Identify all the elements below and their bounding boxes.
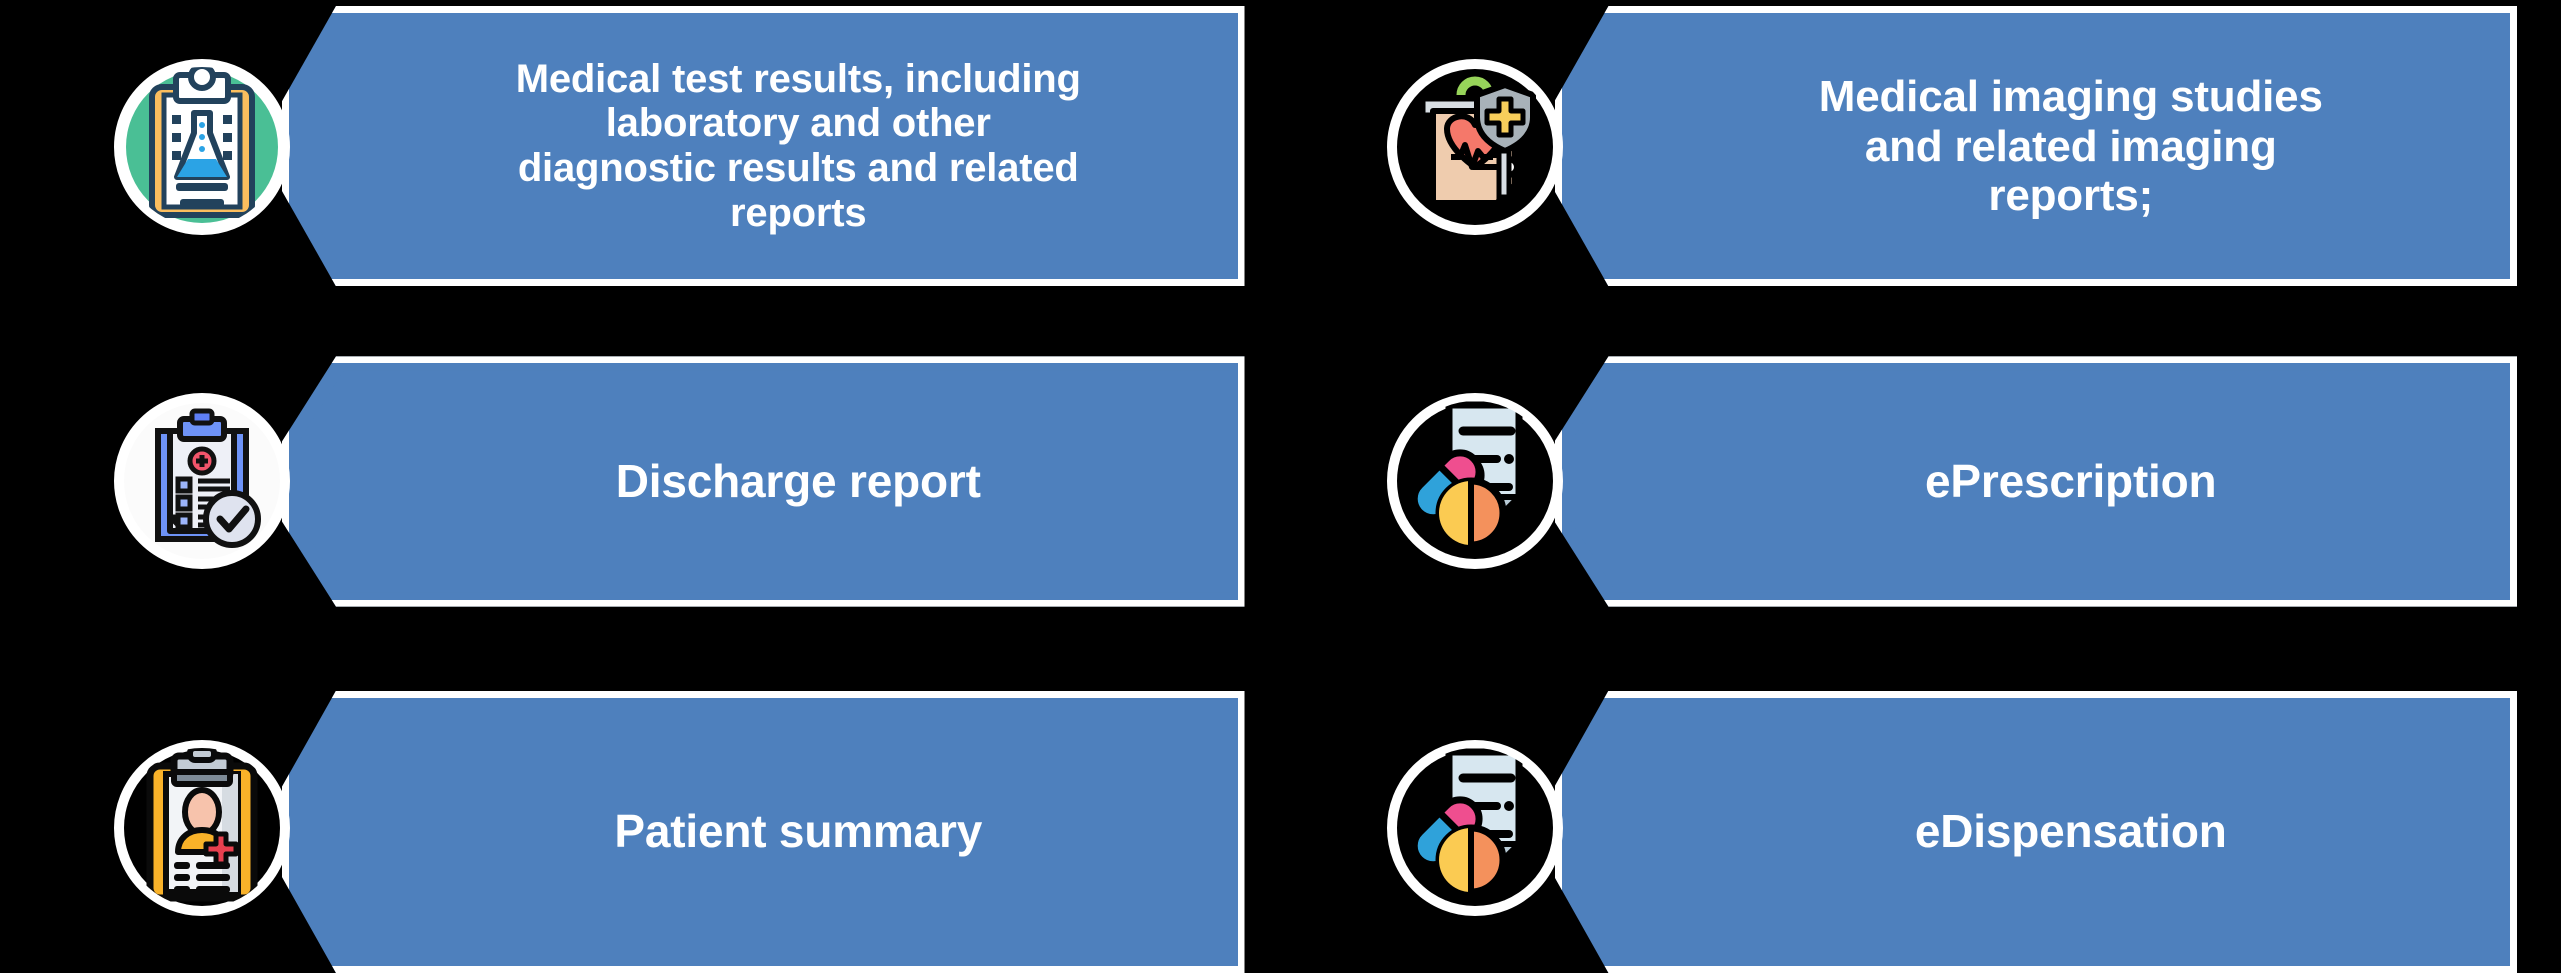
card-label: eDispensation <box>1562 806 2511 858</box>
card-discharge-report[interactable]: Discharge report <box>44 334 1245 628</box>
banner-discharge-report[interactable]: Discharge report <box>282 356 1245 606</box>
pills-prescription-icon <box>1387 740 1563 916</box>
banner-medical-imaging-studies[interactable]: Medical imaging studies and related imag… <box>1555 6 2518 286</box>
card-label: ePrescription <box>1562 456 2511 508</box>
card-label: Patient summary <box>289 806 1238 858</box>
pills-prescription-icon <box>1387 393 1563 569</box>
card-edispensation[interactable]: eDispensation <box>1317 669 2518 963</box>
clipboard-check-icon <box>114 393 290 569</box>
card-patient-summary[interactable]: Patient summary <box>44 669 1245 963</box>
banner-medical-test-results[interactable]: Medical test results, including laborato… <box>282 6 1245 286</box>
card-label: Medical imaging studies and related imag… <box>1562 72 2511 220</box>
heart-report-shield-icon <box>1387 59 1563 235</box>
clipboard-flask-icon <box>114 59 290 235</box>
card-medical-imaging-studies[interactable]: Medical imaging studies and related imag… <box>1317 0 2518 294</box>
card-eprescription[interactable]: ePrescription <box>1317 334 2518 628</box>
card-medical-test-results[interactable]: Medical test results, including laborato… <box>44 0 1245 294</box>
banner-patient-summary[interactable]: Patient summary <box>282 691 1245 973</box>
card-grid: Medical test results, including laborato… <box>0 0 2561 963</box>
banner-edispensation[interactable]: eDispensation <box>1555 691 2518 973</box>
banner-eprescription[interactable]: ePrescription <box>1555 356 2518 606</box>
clipboard-patient-icon <box>114 740 290 916</box>
card-label: Discharge report <box>289 456 1238 508</box>
card-label: Medical test results, including laborato… <box>289 57 1238 236</box>
